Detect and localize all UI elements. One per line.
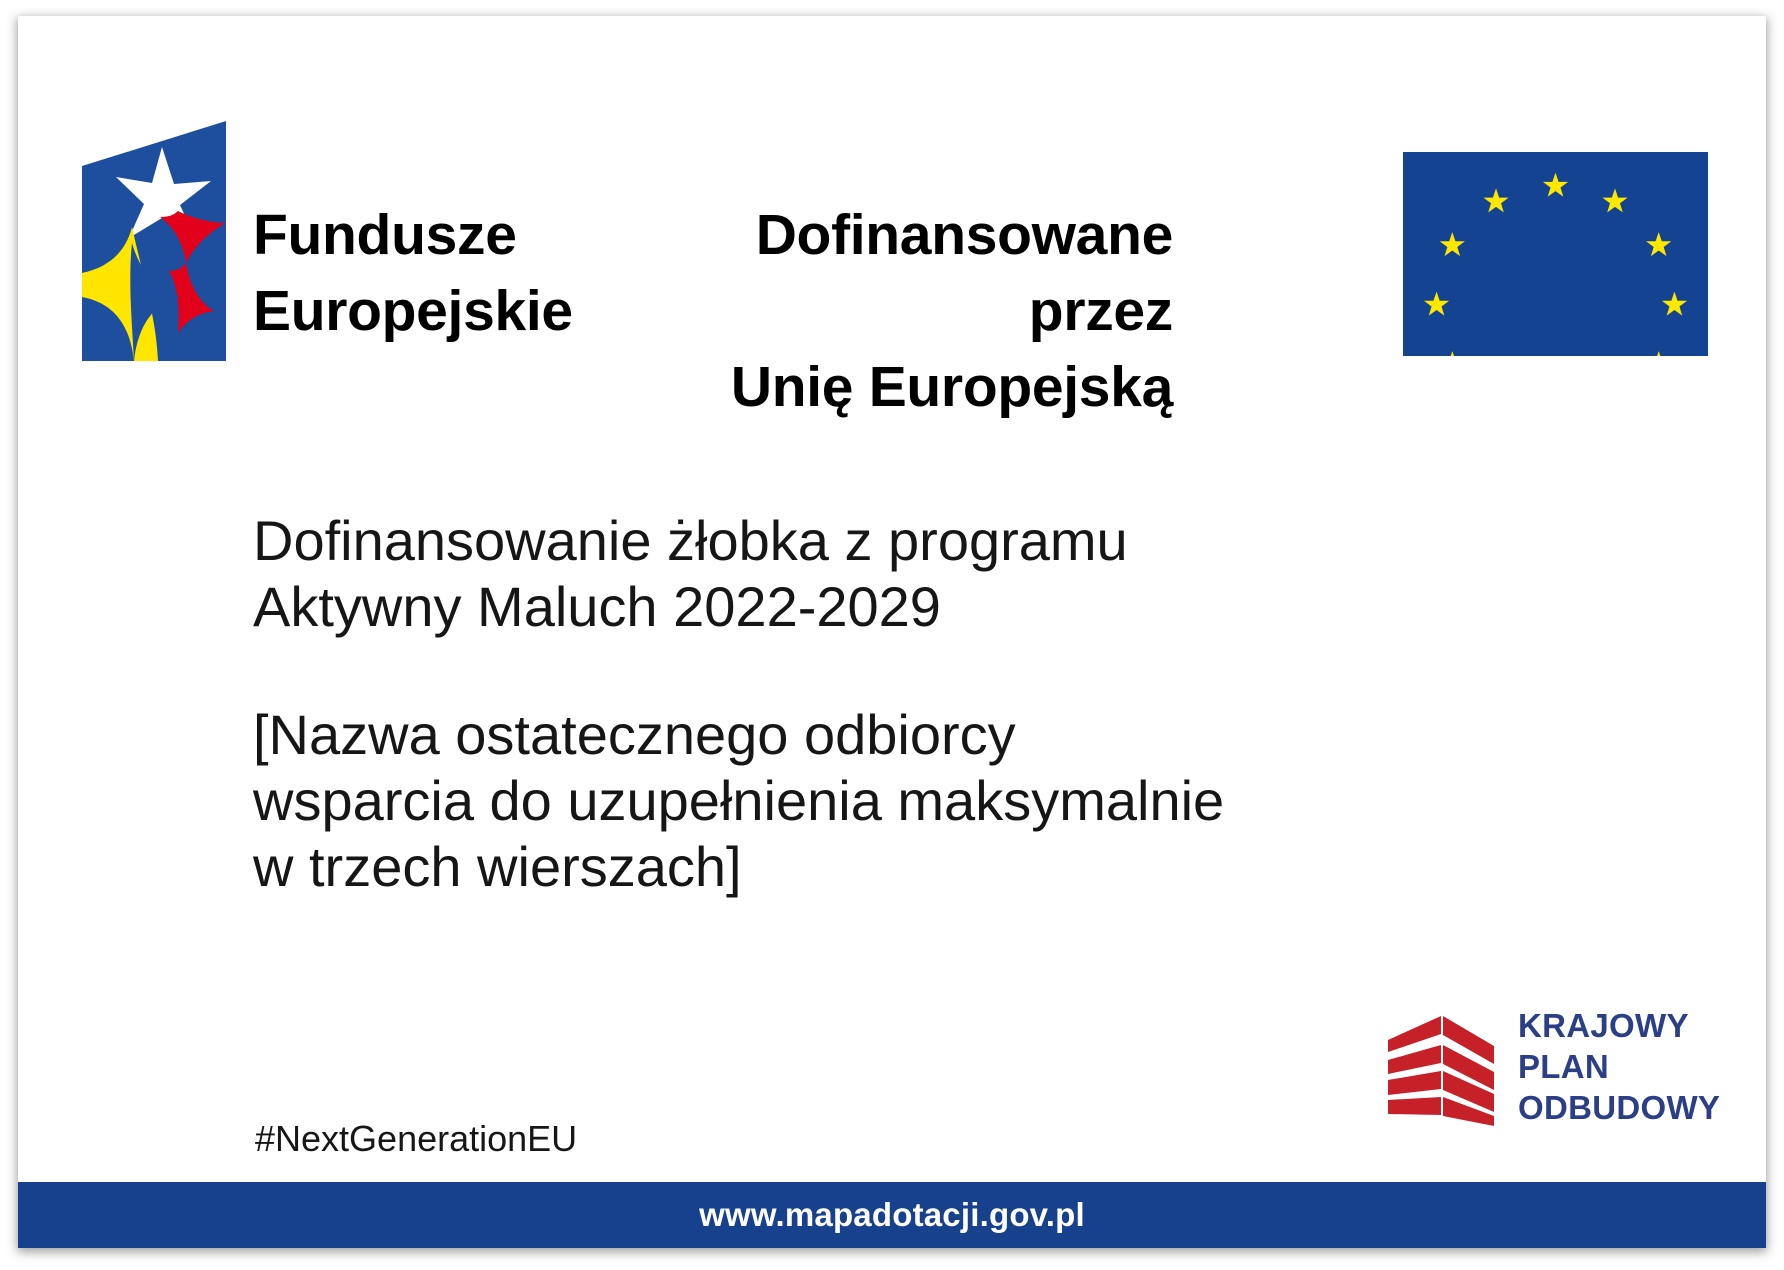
krajowy-plan-odbudowy-wordmark: KRAJOWY PLAN ODBUDOWY	[1518, 1006, 1720, 1129]
krajowy-plan-odbudowy-logo: KRAJOWY PLAN ODBUDOWY	[1386, 1002, 1726, 1130]
fundusze-europejskie-star-logo	[74, 111, 234, 361]
information-plaque: Fundusze Europejskie Dofinansowane przez…	[18, 16, 1766, 1248]
plaque-header: Fundusze Europejskie Dofinansowane przez…	[18, 16, 1766, 386]
fundusze-europejskie-wordmark: Fundusze Europejskie	[253, 198, 573, 350]
next-generation-eu-hashtag: #NextGenerationEU	[255, 1118, 577, 1160]
european-union-flag	[1403, 152, 1708, 356]
dofinansowane-przez-unie-europejska-wordmark: Dofinansowane przez Unię Europejską	[618, 198, 1173, 425]
krajowy-plan-odbudowy-building-mark	[1386, 1004, 1506, 1126]
footer-bar: www.mapadotacji.gov.pl	[18, 1182, 1766, 1248]
project-title: Dofinansowanie żłobka z programu Aktywny…	[253, 508, 1303, 640]
footer-website-url[interactable]: www.mapadotacji.gov.pl	[699, 1196, 1085, 1234]
beneficiary-name-placeholder: [Nazwa ostatecznego odbiorcy wsparcia do…	[253, 702, 1313, 900]
